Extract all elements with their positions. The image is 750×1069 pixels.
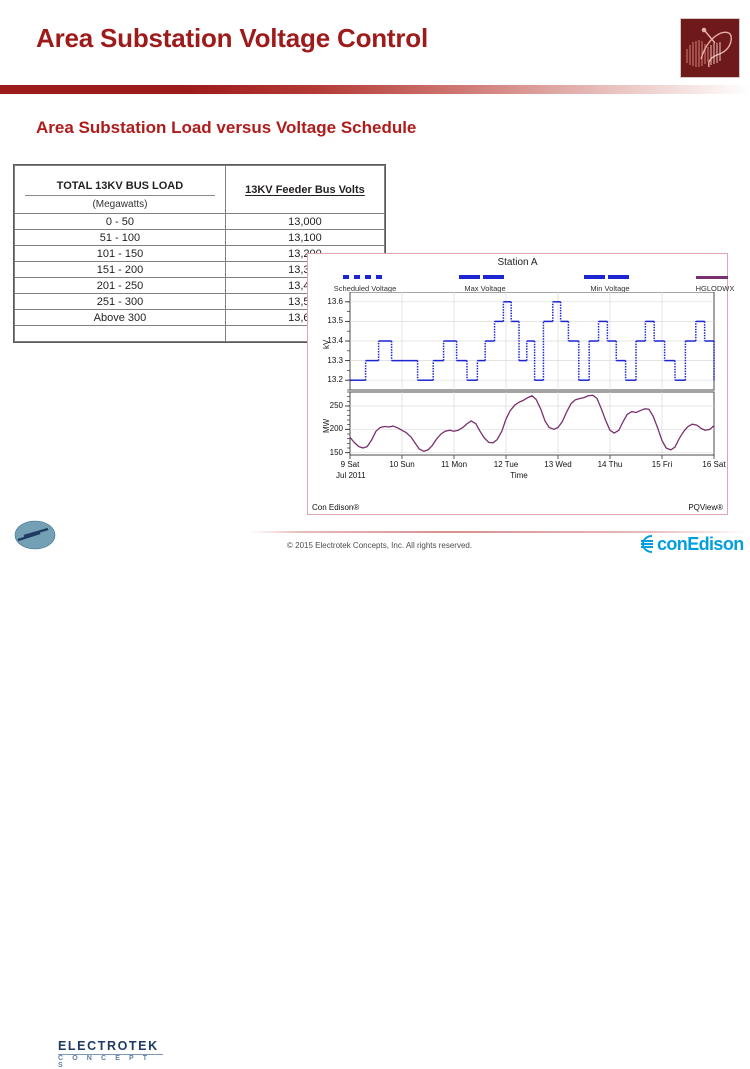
table-cell-load: 101 - 150 bbox=[15, 246, 226, 262]
table-cell-load: 51 - 100 bbox=[15, 230, 226, 246]
chart-ytick-voltage: 13.3 bbox=[320, 356, 343, 365]
electrotek-logo: ELECTROTEK C O N C E P T S bbox=[14, 518, 154, 550]
conedison-name: conEdison bbox=[657, 534, 744, 555]
electrotek-mark-icon bbox=[14, 520, 56, 550]
chart-xtick-label: 10 Sun bbox=[385, 460, 419, 469]
chart-xtick-label: 14 Thu bbox=[593, 460, 627, 469]
conedison-logo: conEdison bbox=[630, 533, 744, 555]
chart-svg bbox=[320, 292, 718, 479]
table-cell-load: Above 300 bbox=[15, 310, 226, 326]
chart-legend: Scheduled VoltageMax VoltageMin VoltageH… bbox=[320, 271, 718, 293]
table-header-load: TOTAL 13KV BUS LOAD (Megawatts) bbox=[15, 166, 226, 214]
table-row: 51 - 10013,100 bbox=[15, 230, 385, 246]
table-cell-load: 251 - 300 bbox=[15, 294, 226, 310]
chart-ytick-voltage: 13.6 bbox=[320, 297, 343, 306]
section-heading: Area Substation Load versus Voltage Sche… bbox=[36, 118, 416, 138]
table-header-volts-label: 13KV Feeder Bus Volts bbox=[245, 184, 365, 196]
legend-item-hglodwx: HGLODWX bbox=[660, 271, 750, 293]
chart-xlabel: Time bbox=[320, 471, 718, 480]
electrotek-name: ELECTROTEK bbox=[58, 1039, 159, 1053]
legend-item-min-voltage: Min Voltage bbox=[555, 271, 665, 293]
chart-ylabel-load: MW bbox=[322, 418, 331, 432]
chart-xtick-label: 16 Sat bbox=[697, 460, 731, 469]
table-cell-load: 151 - 200 bbox=[15, 262, 226, 278]
copyright-text: © 2015 Electrotek Concepts, Inc. All rig… bbox=[287, 541, 472, 550]
table-cell-volts: 13,100 bbox=[225, 230, 384, 246]
legend-item-max-voltage: Max Voltage bbox=[430, 271, 540, 293]
chart-ytick-voltage: 13.5 bbox=[320, 316, 343, 325]
legend-swatch-icon bbox=[430, 271, 540, 285]
table-cell-volts: 13,000 bbox=[225, 214, 384, 230]
legend-item-scheduled-voltage: Scheduled Voltage bbox=[310, 271, 420, 293]
table-row: 0 - 5013,000 bbox=[15, 214, 385, 230]
table-header-volts: 13KV Feeder Bus Volts bbox=[225, 166, 384, 214]
table-cell-load bbox=[15, 326, 226, 342]
page-title: Area Substation Voltage Control bbox=[36, 23, 428, 54]
legend-swatch-icon bbox=[310, 271, 420, 285]
chart-xtick-label: 13 Wed bbox=[541, 460, 575, 469]
table-cell-load: 201 - 250 bbox=[15, 278, 226, 294]
chart-xtick-label: 12 Tue bbox=[489, 460, 523, 469]
chart-panel[interactable]: Station A Scheduled VoltageMax VoltageMi… bbox=[307, 253, 728, 515]
title-divider bbox=[0, 85, 750, 94]
table-cell-load: 0 - 50 bbox=[15, 214, 226, 230]
waveform-lightning-logo-icon bbox=[680, 18, 740, 78]
chart-xtick-label: 9 Sat bbox=[333, 460, 367, 469]
table-header-load-sub: (Megawatts) bbox=[15, 196, 225, 210]
chart-ytick-load: 250 bbox=[320, 401, 343, 410]
chart-source-left: Con Edison® bbox=[312, 503, 359, 512]
conedison-mark-icon bbox=[630, 533, 656, 555]
chart-source-right: PQView® bbox=[688, 503, 723, 512]
table-header-load-main: TOTAL 13KV BUS LOAD bbox=[25, 170, 215, 196]
table-header-row: TOTAL 13KV BUS LOAD (Megawatts) 13KV Fee… bbox=[15, 166, 385, 214]
chart-xtick-label: 15 Fri bbox=[645, 460, 679, 469]
chart-ytick-load: 150 bbox=[320, 448, 343, 457]
chart-plot-area: 13.213.313.413.513.6150200250kVMW9 Sat10… bbox=[320, 292, 718, 479]
chart-xtick-label: 11 Mon bbox=[437, 460, 471, 469]
chart-title: Station A bbox=[308, 257, 727, 268]
chart-ylabel-voltage: kV bbox=[322, 340, 331, 349]
legend-swatch-icon bbox=[660, 271, 750, 285]
chart-ytick-voltage: 13.2 bbox=[320, 375, 343, 384]
electrotek-tagline: C O N C E P T S bbox=[58, 1055, 159, 1069]
electrotek-underline bbox=[58, 1054, 163, 1055]
legend-swatch-icon bbox=[555, 271, 665, 285]
